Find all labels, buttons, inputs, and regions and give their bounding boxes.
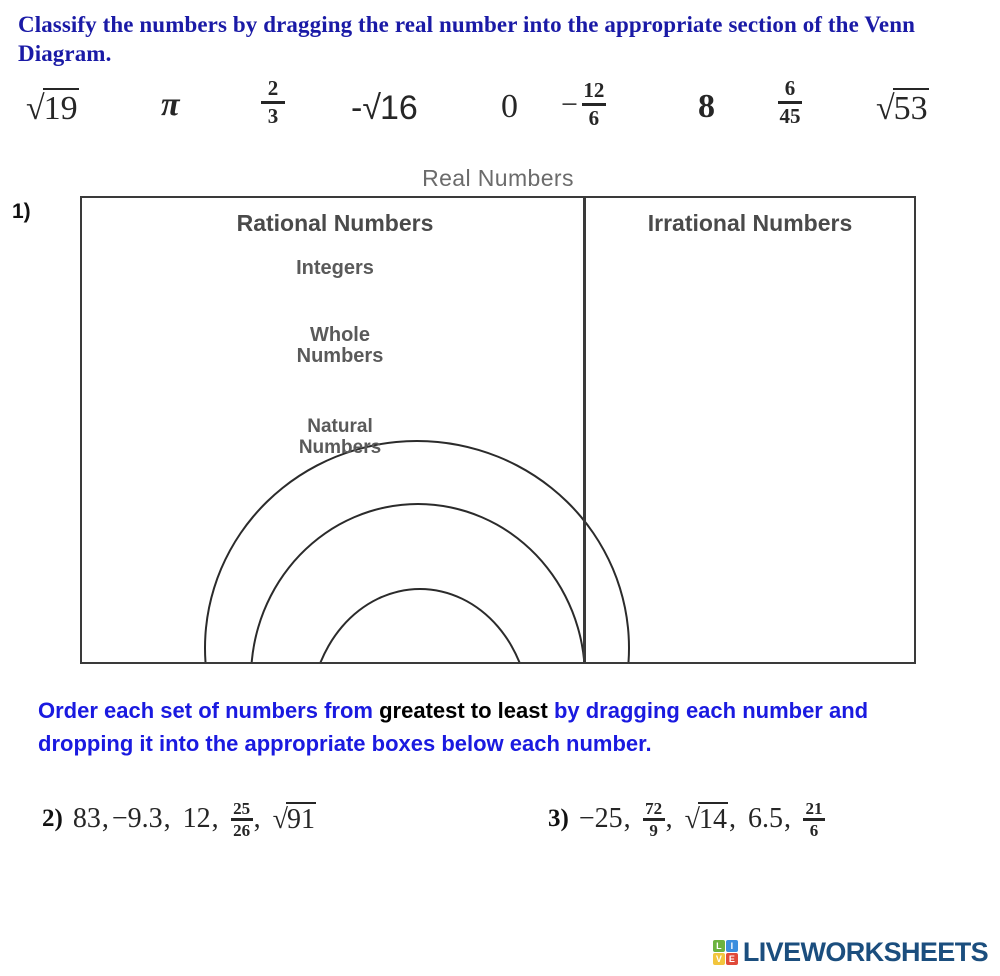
question-1-number: 1)	[12, 200, 31, 224]
denominator: 26	[233, 821, 250, 839]
denominator: 6	[810, 821, 819, 839]
whole-numbers-line-2: Numbers	[240, 346, 440, 367]
logo-tiles-icon: L I V E	[713, 940, 738, 965]
sqrt-53-expression: √53	[876, 88, 929, 128]
q2-term-25-over-26[interactable]: 25 26	[231, 800, 253, 839]
sqrt-19-radicand: 19	[43, 88, 79, 128]
natural-numbers-line-1: Natural	[240, 416, 440, 437]
venn-label-rational-numbers: Rational Numbers	[120, 210, 550, 237]
draggable-number-sqrt-19[interactable]: √19	[26, 88, 79, 128]
draggable-number-eight[interactable]: 8	[698, 88, 715, 126]
sqrt-91-radicand: 91	[286, 802, 316, 836]
minus-sign: −	[561, 88, 578, 122]
q3-term-sqrt-14[interactable]: √14	[685, 802, 728, 836]
draggable-number-two-thirds[interactable]: 2 3	[261, 78, 285, 127]
numerator: 25	[233, 800, 250, 818]
logo-wordmark: LIVEWORKSHEETS	[743, 937, 988, 968]
q2-term-12[interactable]: 12	[183, 803, 211, 835]
instruction-classify-text: Classify the numbers by dragging the rea…	[18, 10, 968, 68]
draggable-number-pi[interactable]: π	[161, 86, 180, 124]
question-2-row: 2) 83, −9.3, 12, 25 26 , √91	[42, 800, 316, 839]
logo-tile-i: I	[726, 940, 738, 952]
denominator: 9	[649, 821, 658, 839]
liveworksheets-logo[interactable]: L I V E LIVEWORKSHEETS	[713, 937, 988, 968]
negative-sign: -	[351, 89, 362, 127]
q2-term-sqrt-91[interactable]: √91	[273, 802, 316, 836]
question-3-number: 3)	[548, 805, 569, 833]
numerator: 2	[268, 78, 279, 101]
q3-term-21-over-6[interactable]: 21 6	[803, 800, 825, 839]
logo-tile-e: E	[726, 953, 738, 965]
fraction-6-over-45: 6 45	[778, 78, 802, 127]
denominator: 45	[780, 104, 801, 127]
question-2-number: 2)	[42, 805, 63, 833]
logo-tile-l: L	[713, 940, 725, 952]
venn-diagram-box[interactable]	[80, 196, 916, 664]
sqrt-16-expression: √16	[362, 89, 419, 128]
numerator: 12	[583, 80, 604, 103]
numerator: 21	[806, 800, 823, 818]
draggable-number-zero[interactable]: 0	[501, 88, 518, 126]
venn-outer-title: Real Numbers	[80, 165, 916, 192]
sqrt-53-radicand: 53	[893, 88, 929, 128]
neg-fraction-12-over-6: − 12 6	[561, 80, 606, 129]
q2-term-83[interactable]: 83	[73, 803, 101, 835]
denominator: 3	[268, 104, 279, 127]
instruction-order-emphasis: greatest to least	[379, 698, 548, 723]
q3-term-6-5[interactable]: 6.5	[748, 803, 783, 835]
whole-numbers-line-1: Whole	[240, 325, 440, 346]
denominator: 6	[589, 106, 600, 129]
instruction-order-part1: Order each set of numbers from	[38, 698, 379, 723]
instruction-order-text: Order each set of numbers from greatest …	[38, 694, 958, 760]
logo-tile-v: V	[713, 953, 725, 965]
question-3-row: 3) −25, 72 9 , √14, 6.5, 21 6	[548, 800, 825, 839]
fraction-2-over-3: 2 3	[261, 78, 285, 127]
draggable-number-neg-twelve-sixths[interactable]: − 12 6	[561, 80, 606, 129]
sqrt-16-radicand: 16	[379, 89, 419, 128]
sqrt-19-expression: √19	[26, 88, 79, 128]
numerator: 6	[785, 78, 796, 101]
q2-term-neg-9-3[interactable]: −9.3	[112, 803, 163, 835]
q3-term-neg-25[interactable]: −25	[579, 803, 623, 835]
question-3-expression: −25, 72 9 , √14, 6.5, 21 6	[579, 800, 825, 839]
draggable-number-sqrt-53[interactable]: √53	[876, 88, 929, 128]
venn-vertical-divider	[583, 196, 586, 664]
venn-label-natural-numbers: Natural Numbers	[240, 416, 440, 458]
q3-term-72-over-9[interactable]: 72 9	[643, 800, 665, 839]
number-bank: √19 π 2 3 -√16 0 − 12 6 8	[26, 80, 976, 155]
draggable-number-neg-sqrt-16[interactable]: -√16	[351, 89, 419, 128]
sqrt-14-radicand: 14	[698, 802, 728, 836]
venn-label-whole-numbers: Whole Numbers	[240, 325, 440, 367]
venn-label-irrational-numbers: Irrational Numbers	[600, 210, 900, 237]
venn-label-integers: Integers	[235, 258, 435, 279]
natural-numbers-line-2: Numbers	[240, 437, 440, 458]
question-2-expression: 83, −9.3, 12, 25 26 , √91	[73, 800, 316, 839]
worksheet-page: Classify the numbers by dragging the rea…	[0, 0, 1000, 976]
fraction-12-over-6: 12 6	[582, 80, 606, 129]
numerator: 72	[645, 800, 662, 818]
draggable-number-six-forty-fifths[interactable]: 6 45	[778, 78, 802, 127]
